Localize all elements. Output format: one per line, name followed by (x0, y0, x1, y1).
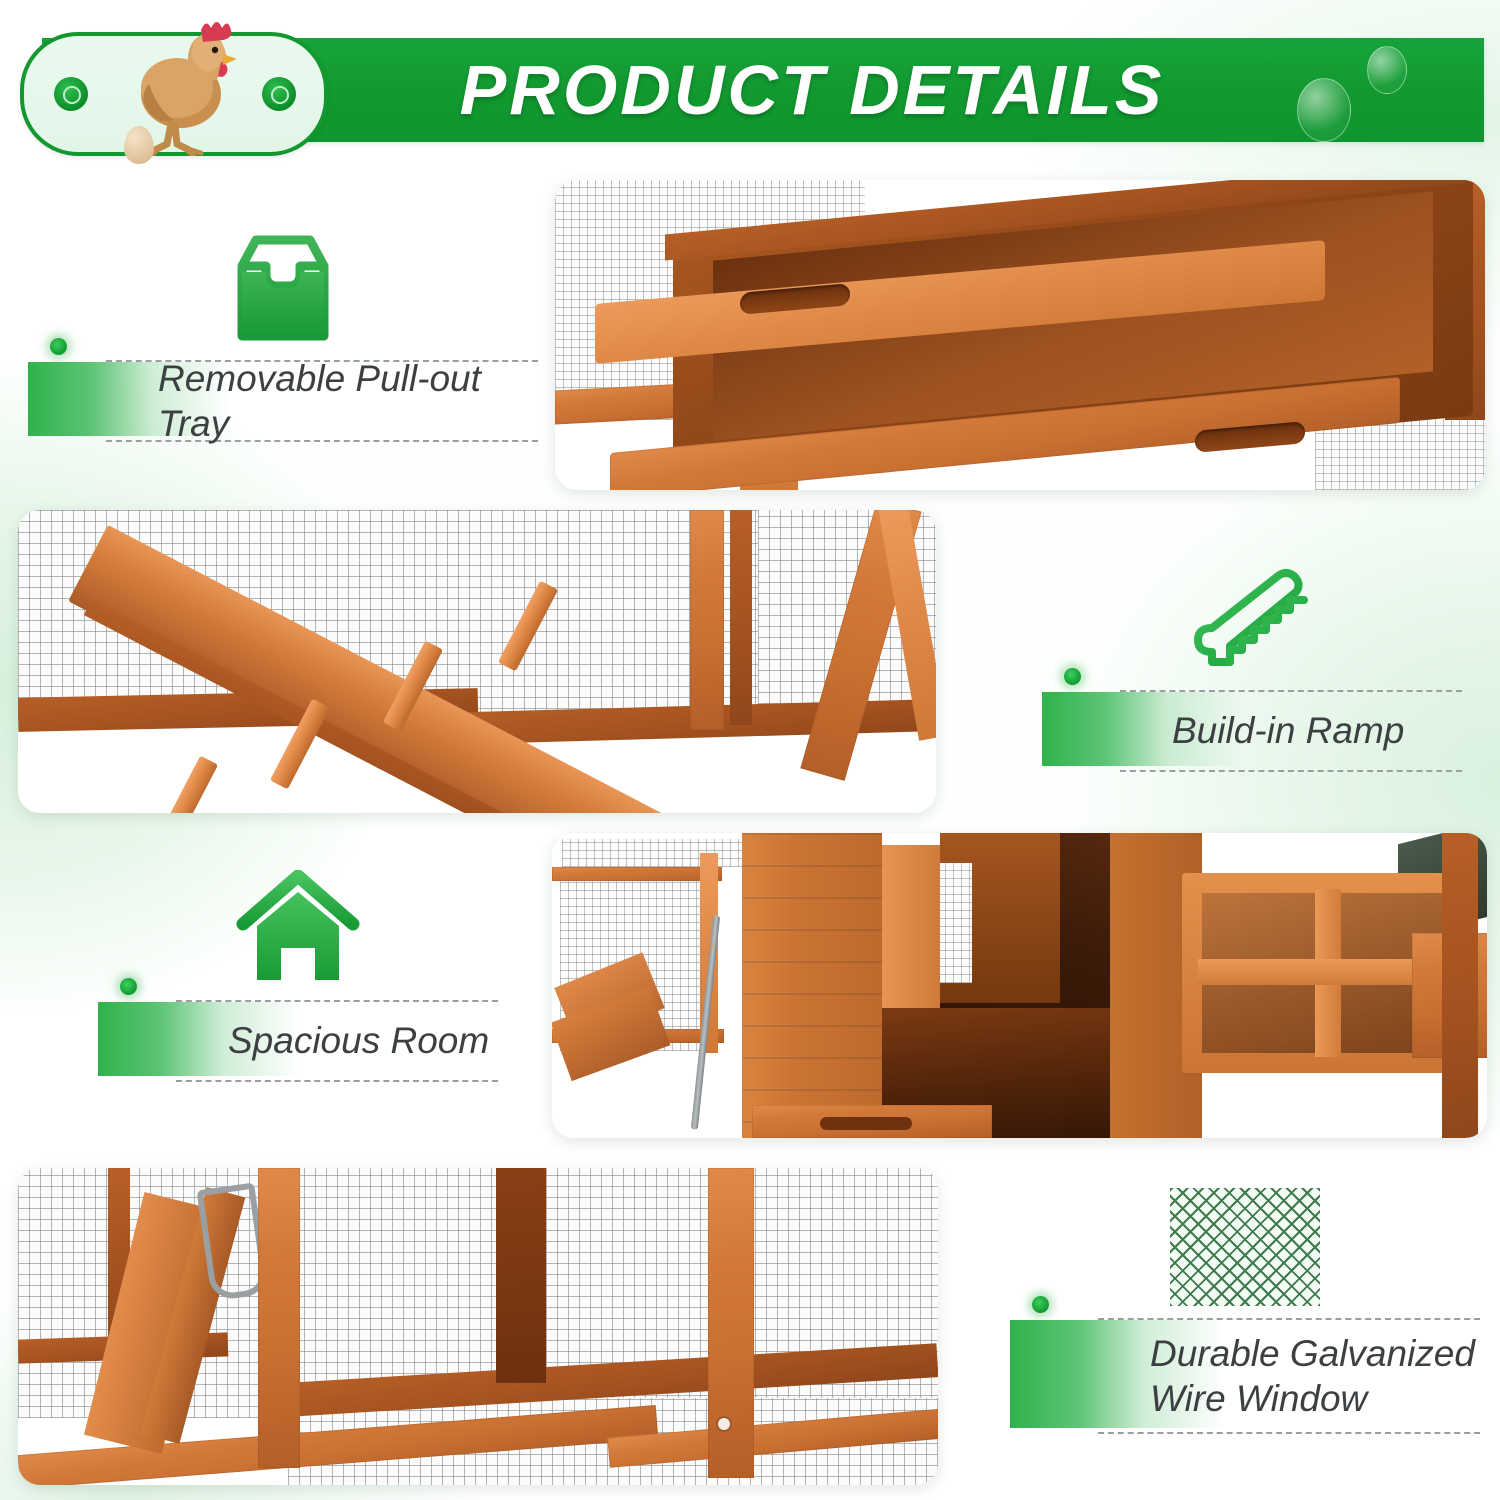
bullet-dot-icon (50, 338, 67, 355)
feature-removable-pull-out-tray: Removable Pull-out Tray (28, 228, 538, 442)
bubble-small-icon (1367, 46, 1407, 94)
photo-removable-pull-out-tray (555, 180, 1485, 490)
header-banner: PRODUCT DETAILS (42, 38, 1484, 142)
feature-label: Durable Galvanized Wire Window (1150, 1331, 1475, 1421)
bubble-large-icon (1297, 78, 1351, 142)
ramp-stairs-icon (1182, 566, 1322, 678)
screw-right-icon (262, 77, 296, 111)
screw-dot-icon (718, 1418, 730, 1430)
feature-label: Removable Pull-out Tray (158, 356, 538, 446)
feature-label-box: Spacious Room (176, 1000, 498, 1082)
feature-label-box: Durable Galvanized Wire Window (1098, 1318, 1480, 1434)
egg-icon (124, 126, 154, 164)
drawer-handle-icon (820, 1117, 912, 1130)
bullet-dot-icon (120, 978, 137, 995)
feature-spacious-room: Spacious Room (98, 868, 498, 1082)
photo-spacious-room (552, 833, 1487, 1138)
feature-durable-galvanized-wire-window: Durable Galvanized Wire Window (1010, 1178, 1480, 1434)
tray-icon (208, 230, 358, 348)
feature-label: Build-in Ramp (1172, 708, 1404, 753)
photo-durable-galvanized-wire-window (18, 1168, 938, 1485)
feature-label-box: Build-in Ramp (1120, 690, 1462, 772)
feature-build-in-ramp: Build-in Ramp (1042, 558, 1462, 772)
screw-left-icon (54, 77, 88, 111)
chicken-badge (20, 32, 328, 156)
house-icon (231, 870, 365, 988)
page-title: PRODUCT DETAILS (372, 55, 1252, 125)
feature-label-box: Removable Pull-out Tray (106, 360, 538, 442)
bullet-dot-icon (1032, 1296, 1049, 1313)
feature-label: Spacious Room (228, 1018, 489, 1063)
bullet-dot-icon (1064, 668, 1081, 685)
product-details-infographic: PRODUCT DETAILS (0, 0, 1500, 1500)
photo-build-in-ramp (18, 510, 936, 813)
wire-mesh-icon (1170, 1188, 1320, 1306)
